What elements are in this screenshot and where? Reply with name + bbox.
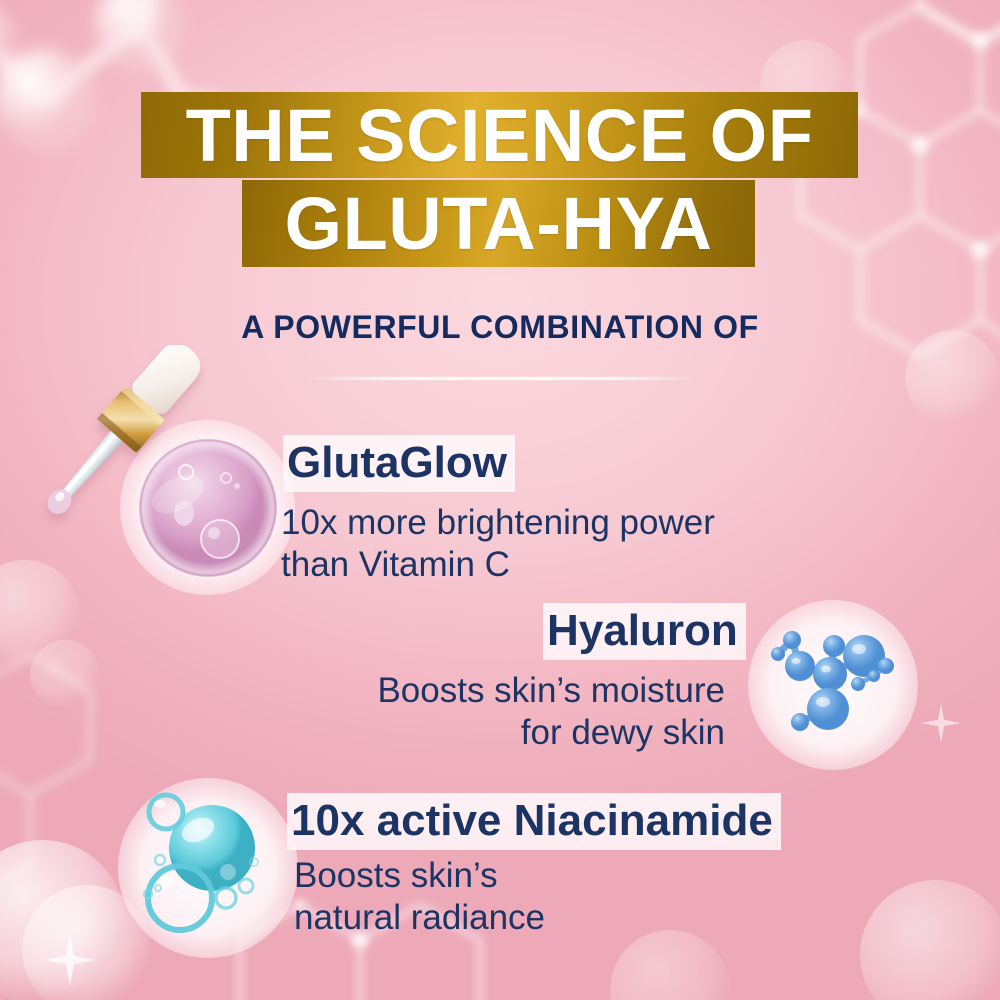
bokeh-circle: [0, 840, 125, 1000]
molecule-icon: [762, 614, 904, 756]
headline-banner-line2: GLUTA-HYA: [242, 180, 755, 267]
niacinamide-icon-group: [118, 778, 298, 958]
bokeh-circle: [610, 930, 730, 1000]
product-science-poster: THE SCIENCE OF GLUTA-HYA A POWERFUL COMB…: [0, 0, 1000, 1000]
bokeh-circle: [0, 560, 80, 670]
sparkle-icon: [40, 930, 100, 990]
niacinamide-title: 10x active Niacinamide: [287, 798, 781, 845]
glutaglow-title: GlutaGlow: [283, 440, 515, 487]
dropper-pipette-icon: [18, 345, 243, 560]
headline-banner-line1: THE SCIENCE OF: [141, 92, 858, 178]
glutaglow-title-text: GlutaGlow: [283, 435, 515, 492]
bokeh-circle: [30, 640, 100, 710]
glutaglow-description: 10x more brightening power than Vitamin …: [281, 502, 715, 585]
hyaluron-icon-group: [748, 600, 918, 770]
hyaluron-title-text: Hyaluron: [543, 603, 746, 660]
niacinamide-description: Boosts skin’s natural radiance: [294, 855, 545, 938]
niacinamide-title-text: 10x active Niacinamide: [287, 793, 781, 850]
page-subtitle: A POWERFUL COMBINATION OF: [0, 309, 1000, 346]
divider: [305, 377, 700, 380]
hyaluron-description: Boosts skin’s moisture for dewy skin: [300, 670, 725, 753]
bokeh-circle: [860, 880, 1000, 1000]
water-bubbles-icon: [130, 790, 286, 946]
sparkle-icon: [918, 700, 964, 746]
hyaluron-title: Hyaluron: [543, 608, 746, 655]
